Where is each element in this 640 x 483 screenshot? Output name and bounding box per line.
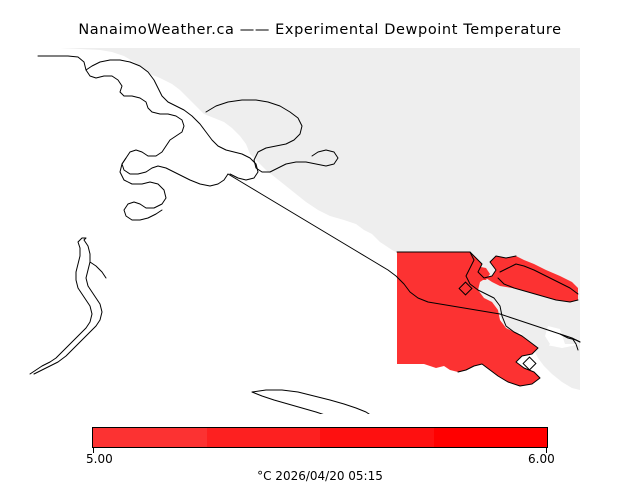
colorbar-segment-1	[93, 428, 207, 447]
colorbar-gradient	[92, 427, 548, 448]
colorbar-segment-2	[207, 428, 321, 447]
page-title: NanaimoWeather.ca —— Experimental Dewpoi…	[0, 22, 640, 38]
map-svg[interactable]	[0, 44, 640, 414]
map-canvas[interactable]	[0, 44, 640, 414]
colorbar-legend: 5.00 6.00 °C 2026/04/20 05:15	[0, 414, 640, 480]
colorbar-segment-4	[434, 428, 548, 447]
colorbar-max-label: 6.00	[528, 452, 555, 466]
colorbar-min-label: 5.00	[86, 452, 113, 466]
colorbar-caption: °C 2026/04/20 05:15	[0, 469, 640, 483]
colorbar-segment-3	[320, 428, 434, 447]
weather-map-page: NanaimoWeather.ca —— Experimental Dewpoi…	[0, 0, 640, 480]
